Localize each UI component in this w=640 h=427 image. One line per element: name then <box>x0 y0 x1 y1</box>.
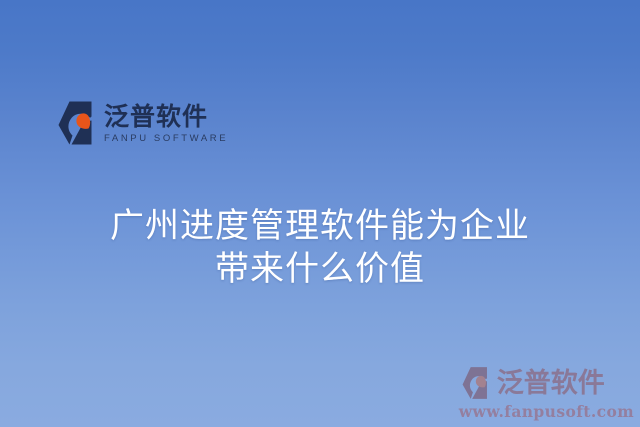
watermark: 泛普软件 www.fanpusoft.com <box>459 366 634 421</box>
brand-wordmark: 泛普软件 FANPU SOFTWARE <box>104 103 228 144</box>
brand-logo: 泛普软件 FANPU SOFTWARE <box>57 100 228 146</box>
headline-line-1: 广州进度管理软件能为企业 <box>0 205 640 248</box>
watermark-url: www.fanpusoft.com <box>459 402 634 421</box>
watermark-brand-name: 泛普软件 <box>497 370 605 397</box>
headline-line-2: 带来什么价值 <box>0 248 640 291</box>
headline: 广州进度管理软件能为企业 带来什么价值 <box>0 205 640 291</box>
watermark-logo-row: 泛普软件 <box>459 366 634 400</box>
brand-name-en: FANPU SOFTWARE <box>104 133 228 144</box>
fanpu-hexagon-logo-icon <box>57 100 99 146</box>
brand-name-cn: 泛普软件 <box>104 103 228 130</box>
promo-banner: 泛普软件 FANPU SOFTWARE 广州进度管理软件能为企业 带来什么价值 … <box>0 0 640 427</box>
fanpu-hexagon-logo-icon <box>459 366 495 400</box>
